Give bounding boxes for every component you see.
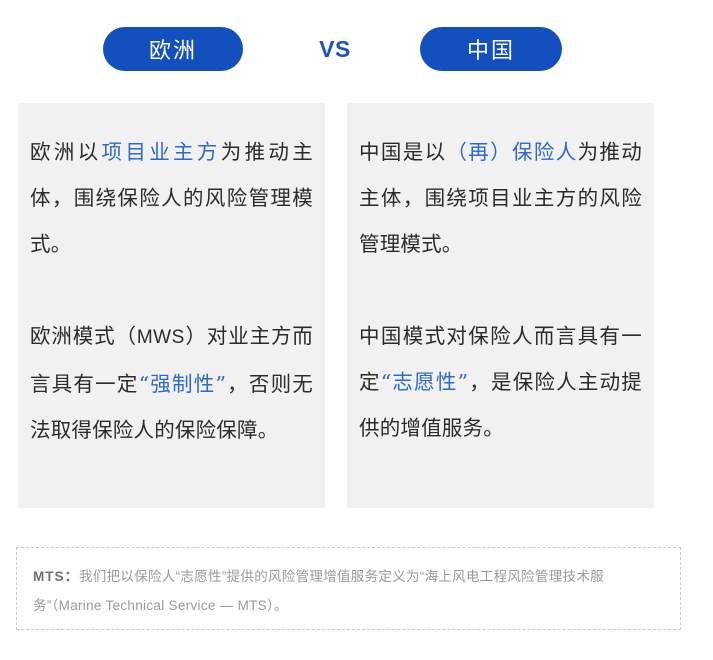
comparison-panels: 欧洲以项目业主方为推动主体，围绕保险人的风险管理模式。 欧洲模式（MWS）对业主… bbox=[0, 103, 713, 508]
footnote-text: MTS：我们把以保险人“志愿性”提供的风险管理增值服务定义为“海上风电工程风险管… bbox=[33, 562, 664, 620]
europe-p1-before: 欧洲以 bbox=[30, 140, 102, 164]
europe-paragraph-2: 欧洲模式（MWS）对业主方而言具有一定“强制性”，否则无法取得保险人的保险保障。 bbox=[30, 313, 313, 453]
comparison-slide: 欧洲 中国 VS 欧洲以项目业主方为推动主体，围绕保险人的风险管理模式。 欧洲模… bbox=[0, 0, 713, 660]
footnote-tag: MTS： bbox=[33, 569, 79, 584]
pill-europe[interactable]: 欧洲 bbox=[103, 27, 243, 71]
footnote-box: MTS：我们把以保险人“志愿性”提供的风险管理增值服务定义为“海上风电工程风险管… bbox=[16, 547, 681, 630]
china-p2-highlight: “志愿性” bbox=[381, 370, 469, 394]
footnote-body: 我们把以保险人“志愿性”提供的风险管理增值服务定义为“海上风电工程风险管理技术服… bbox=[33, 569, 604, 613]
pill-china[interactable]: 中国 bbox=[420, 27, 562, 71]
europe-p1-highlight: 项目业主方 bbox=[102, 140, 221, 164]
europe-paragraph-1: 欧洲以项目业主方为推动主体，围绕保险人的风险管理模式。 bbox=[30, 129, 313, 267]
europe-p2-latin: MWS bbox=[137, 327, 185, 348]
europe-p2-before: 欧洲模式（ bbox=[30, 324, 137, 348]
china-paragraph-2: 中国模式对保险人而言具有一定“志愿性”，是保险人主动提供的增值服务。 bbox=[359, 313, 642, 451]
europe-p2-highlight: “强制性” bbox=[139, 372, 227, 396]
vs-label: VS bbox=[306, 27, 364, 71]
china-paragraph-1: 中国是以（再）保险人为推动主体，围绕项目业主方的风险管理模式。 bbox=[359, 129, 642, 267]
china-p1-before: 中国是以 bbox=[359, 140, 446, 164]
panel-china: 中国是以（再）保险人为推动主体，围绕项目业主方的风险管理模式。 中国模式对保险人… bbox=[347, 103, 654, 508]
china-p1-highlight: （再）保险人 bbox=[446, 140, 577, 164]
panel-europe: 欧洲以项目业主方为推动主体，围绕保险人的风险管理模式。 欧洲模式（MWS）对业主… bbox=[18, 103, 325, 508]
